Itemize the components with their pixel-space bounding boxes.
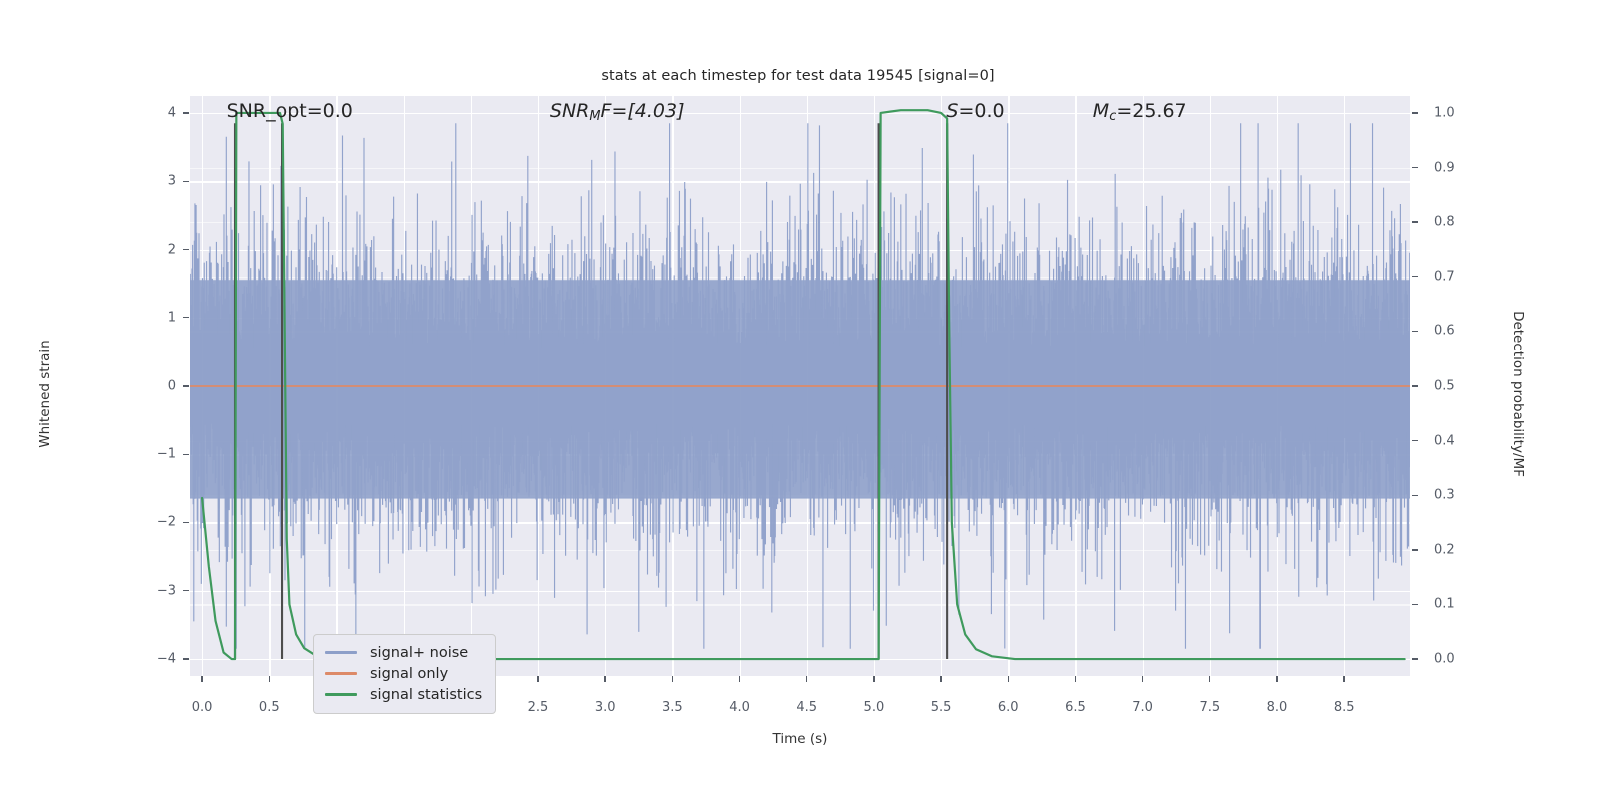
y-tick-label-right: 0.7 <box>1434 269 1455 284</box>
y-tick-label-right: 0.0 <box>1434 652 1455 667</box>
y-tick-mark-left <box>183 454 189 455</box>
x-tick-label: 2.5 <box>528 700 549 715</box>
y-tick-mark-left <box>183 590 189 591</box>
x-tick-mark <box>940 676 941 682</box>
x-tick-mark <box>537 676 538 682</box>
figure-title-text: stats at each timestep for test data 195… <box>601 68 994 84</box>
y-tick-label-left: −2 <box>157 515 176 530</box>
y-tick-mark-left <box>183 317 189 318</box>
y-axis-label-left: Whitened strain <box>37 194 53 594</box>
x-tick-mark <box>739 676 740 682</box>
figure-canvas: stats at each timestep for test data 195… <box>0 0 1600 800</box>
x-tick-mark <box>201 676 202 682</box>
annotation-snr-opt: SNR_opt=0.0 <box>227 100 353 122</box>
data-layer <box>190 96 1410 676</box>
x-tick-label: 3.0 <box>595 700 616 715</box>
legend-item-0[interactable]: signal+ noise <box>325 642 482 663</box>
x-tick-mark <box>269 676 270 682</box>
x-tick-label: 4.5 <box>796 700 817 715</box>
series-canvas <box>190 96 1410 676</box>
y-tick-mark-left <box>183 658 189 659</box>
y-tick-mark-right <box>1412 221 1418 222</box>
x-tick-mark <box>1209 676 1210 682</box>
x-tick-label: 7.5 <box>1199 700 1220 715</box>
y-tick-mark-left <box>183 249 189 250</box>
y-tick-label-left: −3 <box>157 583 176 598</box>
x-tick-label: 0.0 <box>192 700 213 715</box>
x-tick-label: 6.0 <box>998 700 1019 715</box>
y-tick-label-right: 0.4 <box>1434 433 1455 448</box>
y-tick-mark-left <box>183 385 189 386</box>
x-tick-mark <box>604 676 605 682</box>
x-tick-mark <box>1075 676 1076 682</box>
x-tick-label: 0.5 <box>259 700 280 715</box>
x-tick-label: 8.0 <box>1267 700 1288 715</box>
y-tick-mark-right <box>1412 331 1418 332</box>
y-tick-label-right: 0.8 <box>1434 215 1455 230</box>
x-tick-mark <box>1343 676 1344 682</box>
x-tick-label: 6.5 <box>1065 700 1086 715</box>
x-tick-mark <box>672 676 673 682</box>
y-tick-label-left: −4 <box>157 651 176 666</box>
y-tick-mark-right <box>1412 385 1418 386</box>
legend-color-swatch <box>325 693 357 696</box>
y-tick-mark-right <box>1412 440 1418 441</box>
legend-item-2[interactable]: signal statistics <box>325 684 482 705</box>
y-tick-mark-left <box>183 181 189 182</box>
y-tick-label-left: 1 <box>168 310 176 325</box>
y-tick-label-left: 3 <box>168 174 176 189</box>
x-tick-mark <box>1142 676 1143 682</box>
y-tick-mark-right <box>1412 167 1418 168</box>
legend-label: signal statistics <box>370 687 482 703</box>
legend-label: signal only <box>370 666 448 682</box>
y-tick-label-left: 2 <box>168 242 176 257</box>
x-tick-label: 4.0 <box>729 700 750 715</box>
plot-area <box>190 96 1410 676</box>
x-tick-mark <box>806 676 807 682</box>
x-tick-mark <box>873 676 874 682</box>
y-axis-label-right: Detection probability/MF <box>1510 194 1526 594</box>
y-tick-mark-right <box>1412 658 1418 659</box>
y-tick-mark-right <box>1412 276 1418 277</box>
y-tick-label-left: −1 <box>157 447 176 462</box>
x-tick-mark <box>1008 676 1009 682</box>
legend-color-swatch <box>325 651 357 654</box>
y-tick-label-right: 0.3 <box>1434 488 1455 503</box>
x-tick-mark <box>1276 676 1277 682</box>
annotation-s-stat: S=0.0 <box>946 100 1004 122</box>
y-tick-label-right: 0.5 <box>1434 379 1455 394</box>
legend-label: signal+ noise <box>370 645 468 661</box>
y-tick-mark-right <box>1412 549 1418 550</box>
y-tick-label-right: 0.6 <box>1434 324 1455 339</box>
y-tick-label-right: 0.9 <box>1434 160 1455 175</box>
y-tick-label-right: 1.0 <box>1434 105 1455 120</box>
x-tick-label: 7.0 <box>1132 700 1153 715</box>
legend-color-swatch <box>325 672 357 675</box>
x-tick-label: 5.0 <box>864 700 885 715</box>
y-tick-label-left: 0 <box>168 379 176 394</box>
y-tick-mark-left <box>183 112 189 113</box>
x-tick-label: 5.5 <box>931 700 952 715</box>
y-tick-mark-left <box>183 522 189 523</box>
y-tick-mark-right <box>1412 495 1418 496</box>
x-axis-label: Time (s) <box>0 731 1600 747</box>
y-tick-label-right: 0.1 <box>1434 597 1455 612</box>
y-tick-mark-right <box>1412 112 1418 113</box>
chart-legend: signal+ noisesignal onlysignal statistic… <box>313 634 496 714</box>
y-tick-mark-right <box>1412 604 1418 605</box>
annotation-chirp-mass: Mc=25.67 <box>1093 100 1187 124</box>
legend-item-1[interactable]: signal only <box>325 663 482 684</box>
y-tick-label-right: 0.2 <box>1434 542 1455 557</box>
page-title: stats at each timestep for test data 195… <box>0 68 1600 84</box>
x-tick-label: 3.5 <box>662 700 683 715</box>
x-tick-label: 8.5 <box>1334 700 1355 715</box>
annotation-snr-mf: SNRMF=[4.03] <box>550 100 685 124</box>
y-tick-label-left: 4 <box>168 106 176 121</box>
